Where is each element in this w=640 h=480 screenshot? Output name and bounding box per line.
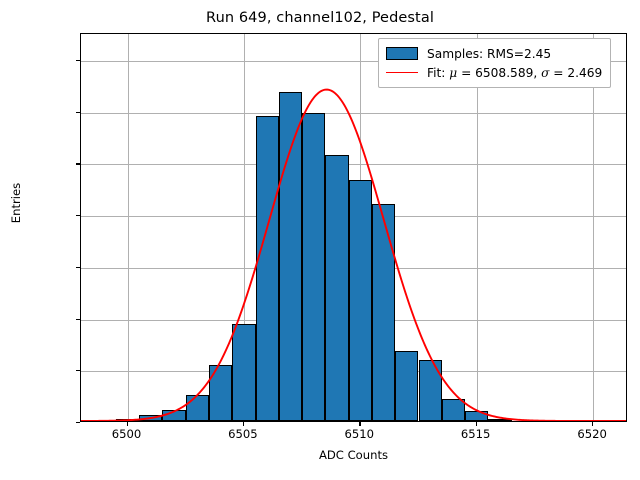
- fit-path: [81, 90, 626, 421]
- x-tick-label: 6515: [441, 427, 511, 441]
- y-tick-mark: [76, 422, 80, 423]
- x-tick-mark: [359, 422, 360, 426]
- y-tick-mark: [76, 215, 80, 216]
- y-tick-mark: [76, 267, 80, 268]
- gaussian-fit-curve: [81, 34, 626, 421]
- y-axis-label: Entries: [9, 123, 23, 283]
- x-tick-label: 6520: [557, 427, 627, 441]
- x-tick-label: 6505: [208, 427, 278, 441]
- y-tick-mark: [76, 112, 80, 113]
- x-tick-mark: [243, 422, 244, 426]
- x-tick-mark: [127, 422, 128, 426]
- x-axis-label: ADC Counts: [80, 448, 627, 462]
- x-tick-label: 6500: [92, 427, 162, 441]
- legend-fit-prefix: Fit:: [427, 66, 449, 80]
- fit-sigma-value: 2.469: [567, 66, 602, 80]
- x-tick-mark: [476, 422, 477, 426]
- y-tick-mark: [76, 370, 80, 371]
- fit-mu-value: 6508.589: [475, 66, 533, 80]
- page-title: Run 649, channel102, Pedestal: [0, 10, 640, 26]
- legend-label-fit: Fit: μ = 6508.589, σ = 2.469: [427, 66, 602, 80]
- y-tick-mark: [76, 60, 80, 61]
- x-tick-mark: [592, 422, 593, 426]
- legend-label-samples: Samples: RMS=2.45: [427, 47, 551, 61]
- x-tick-label: 6510: [324, 427, 394, 441]
- plot-area: [80, 33, 627, 422]
- legend-patch-swatch-icon: [386, 47, 418, 60]
- legend-item-fit: Fit: μ = 6508.589, σ = 2.469: [386, 63, 602, 82]
- legend-line-swatch-icon: [386, 72, 418, 73]
- y-tick-mark: [76, 319, 80, 320]
- y-tick-mark: [76, 163, 80, 164]
- legend-item-samples: Samples: RMS=2.45: [386, 44, 602, 63]
- chart-legend: Samples: RMS=2.45 Fit: μ = 6508.589, σ =…: [378, 38, 611, 88]
- chart-figure: Run 649, channel102, Pedestal 0250500750…: [0, 0, 640, 480]
